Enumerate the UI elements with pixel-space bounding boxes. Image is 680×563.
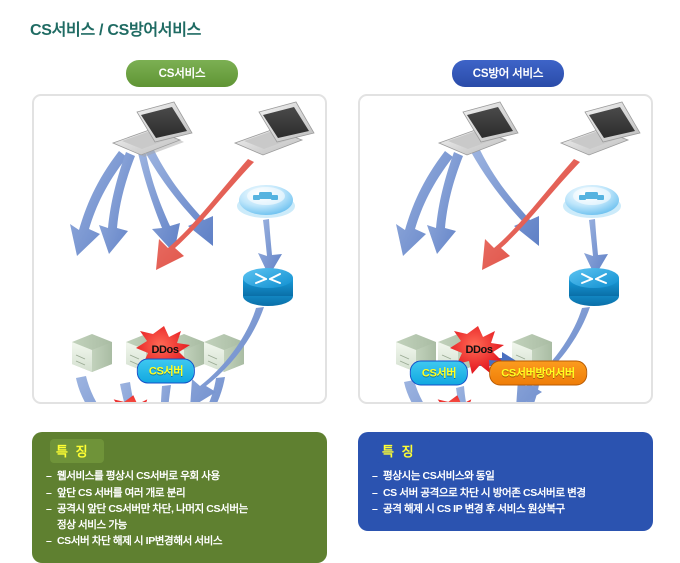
internet-cloud-icon [563, 185, 621, 218]
cs-defense-service-header-pill: CS방어 서비스 [452, 60, 564, 87]
cloud-to-router-arrow [258, 219, 282, 276]
list-item: –앞단 CS 서버를 여러 개로 분리 [46, 486, 317, 502]
attack-arrow-red [156, 159, 254, 270]
dash-icon: – [46, 502, 51, 518]
left-header-wrap: CS서비스 [22, 60, 342, 90]
cloud-to-router-arrow [584, 219, 608, 276]
bullet-text: CS서버 차단 해제 시 IP변경해서 서비스 [57, 535, 222, 547]
cs-defense-stage: DDos CS서버 CS서버방어서버 본서버 [360, 96, 651, 402]
feature-bullet-list: –웹서비스를 평상시 CS서버로 우회 사용 –앞단 CS 서버를 여러 개로 … [32, 469, 327, 550]
list-item: –웹서비스를 평상시 CS서버로 우회 사용 [46, 469, 317, 485]
bullet-text: 공격시 앞단 CS서버만 차단, 나머지 CS서버는 정상 서비스 가능 [57, 503, 248, 531]
list-item: –CS 서버 공격으로 차단 시 방어존 CS서버로 변경 [372, 486, 643, 502]
list-item: –공격 해제 시 CS IP 변경 후 서비스 원상복구 [372, 502, 643, 518]
cs-server-pill: CS서버 [137, 359, 195, 384]
client-laptop-icon [235, 102, 314, 155]
dash-icon: – [46, 486, 51, 502]
attack-arrow-red [482, 159, 580, 270]
dash-icon: – [46, 469, 51, 485]
dash-icon: – [372, 469, 377, 485]
bullet-text: 공격 해제 시 CS IP 변경 후 서비스 원상복구 [383, 503, 565, 515]
cs-service-header-pill: CS서비스 [126, 60, 238, 87]
cs-service-feature-box: 특 징 –웹서비스를 평상시 CS서버로 우회 사용 –앞단 CS 서버를 여러… [32, 432, 327, 563]
cs-defense-server-pill: CS서버방어서버 [489, 361, 587, 386]
bullet-text: 평상시는 CS서비스와 동일 [383, 470, 494, 482]
cs-service-diagram-panel: DDos CS서버 본서버 [32, 94, 327, 404]
list-item: –공격시 앞단 CS서버만 차단, 나머지 CS서버는 정상 서비스 가능 [46, 502, 317, 533]
list-item: –평상시는 CS서비스와 동일 [372, 469, 643, 485]
ddos-label: DDos [465, 344, 492, 356]
router-icon [569, 268, 619, 306]
cs-service-stage: DDos CS서버 본서버 [34, 96, 325, 402]
attacker-laptop-icon [439, 102, 518, 155]
dash-icon: – [372, 486, 377, 502]
page-title: CS서비스 / CS방어서비스 [30, 16, 201, 40]
attack-arrow-blue [70, 150, 213, 256]
list-item: –CS서버 차단 해제 시 IP변경해서 서비스 [46, 534, 317, 550]
dash-icon: – [372, 502, 377, 518]
right-header-wrap: CS방어 서비스 [348, 60, 668, 90]
cs-defense-service-column: CS방어 서비스 [348, 60, 668, 404]
cs-server-pill: CS서버 [410, 361, 468, 386]
attack-arrow-blue [396, 150, 539, 256]
feature-tab-label: 특 징 [376, 439, 430, 463]
attacker-laptop-icon [113, 102, 192, 157]
bullet-text: CS 서버 공격으로 차단 시 방어존 CS서버로 변경 [383, 487, 586, 499]
ddos-label: DDos [151, 344, 178, 356]
secondary-burst-icon [110, 395, 154, 402]
cs-defense-feature-box: 특 징 –평상시는 CS서비스와 동일 –CS 서버 공격으로 차단 시 방어존… [358, 432, 653, 531]
feature-bullet-list: –평상시는 CS서비스와 동일 –CS 서버 공격으로 차단 시 방어존 CS서… [358, 469, 653, 518]
secondary-burst-icon [434, 395, 478, 402]
router-icon [243, 268, 293, 306]
cs-defense-diagram-panel: DDos CS서버 CS서버방어서버 본서버 [358, 94, 653, 404]
bullet-text: 앞단 CS 서버를 여러 개로 분리 [57, 487, 185, 499]
feature-tab-label: 특 징 [50, 439, 104, 463]
internet-cloud-icon [237, 185, 295, 218]
dash-icon: – [46, 534, 51, 550]
bullet-text: 웹서비스를 평상시 CS서버로 우회 사용 [57, 470, 220, 482]
client-laptop-icon [561, 102, 640, 155]
cs-service-column: CS서비스 [22, 60, 342, 404]
